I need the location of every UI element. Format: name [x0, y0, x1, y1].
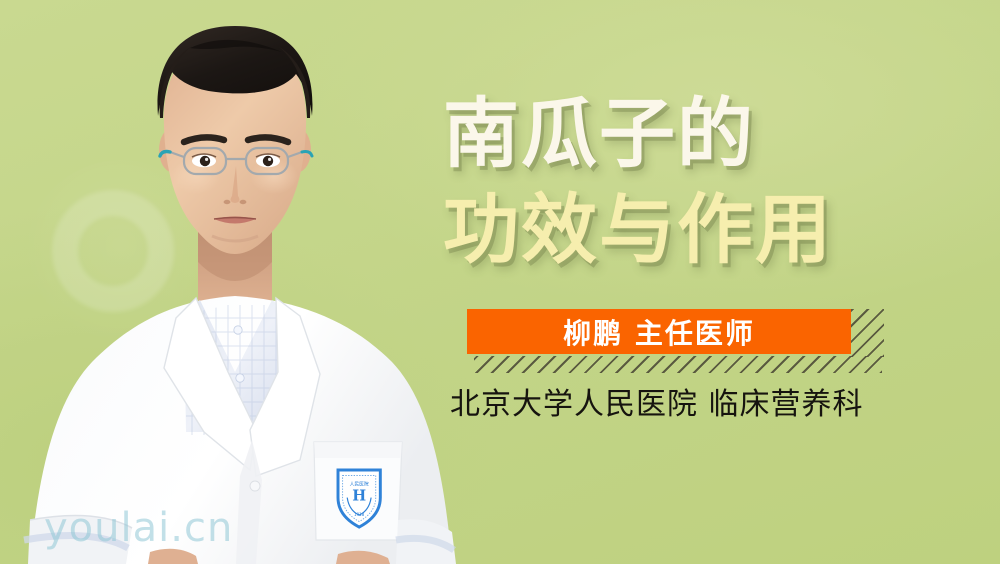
- poster-canvas: 人民医院 H 1918: [0, 0, 1000, 564]
- affiliation-text: 北京大学人民医院 临床营养科: [450, 379, 864, 423]
- speaker-name-title-text: 柳鹏 主任医师: [563, 312, 755, 352]
- site-watermark: youlai.cn: [44, 505, 233, 551]
- hatch-pattern-block: [848, 309, 884, 357]
- svg-text:1918: 1918: [354, 512, 365, 517]
- poster-headline: 南瓜子的 功效与作用: [443, 86, 913, 278]
- hatch-pattern-bar: [474, 356, 882, 373]
- doctor-portrait-photo: 人民医院 H 1918: [0, 0, 470, 564]
- headline-line-1: 南瓜子的: [443, 86, 913, 182]
- svg-text:H: H: [352, 487, 366, 504]
- headline-line-2: 功效与作用: [443, 182, 913, 278]
- speaker-name-banner: 柳鹏 主任医师: [467, 309, 851, 354]
